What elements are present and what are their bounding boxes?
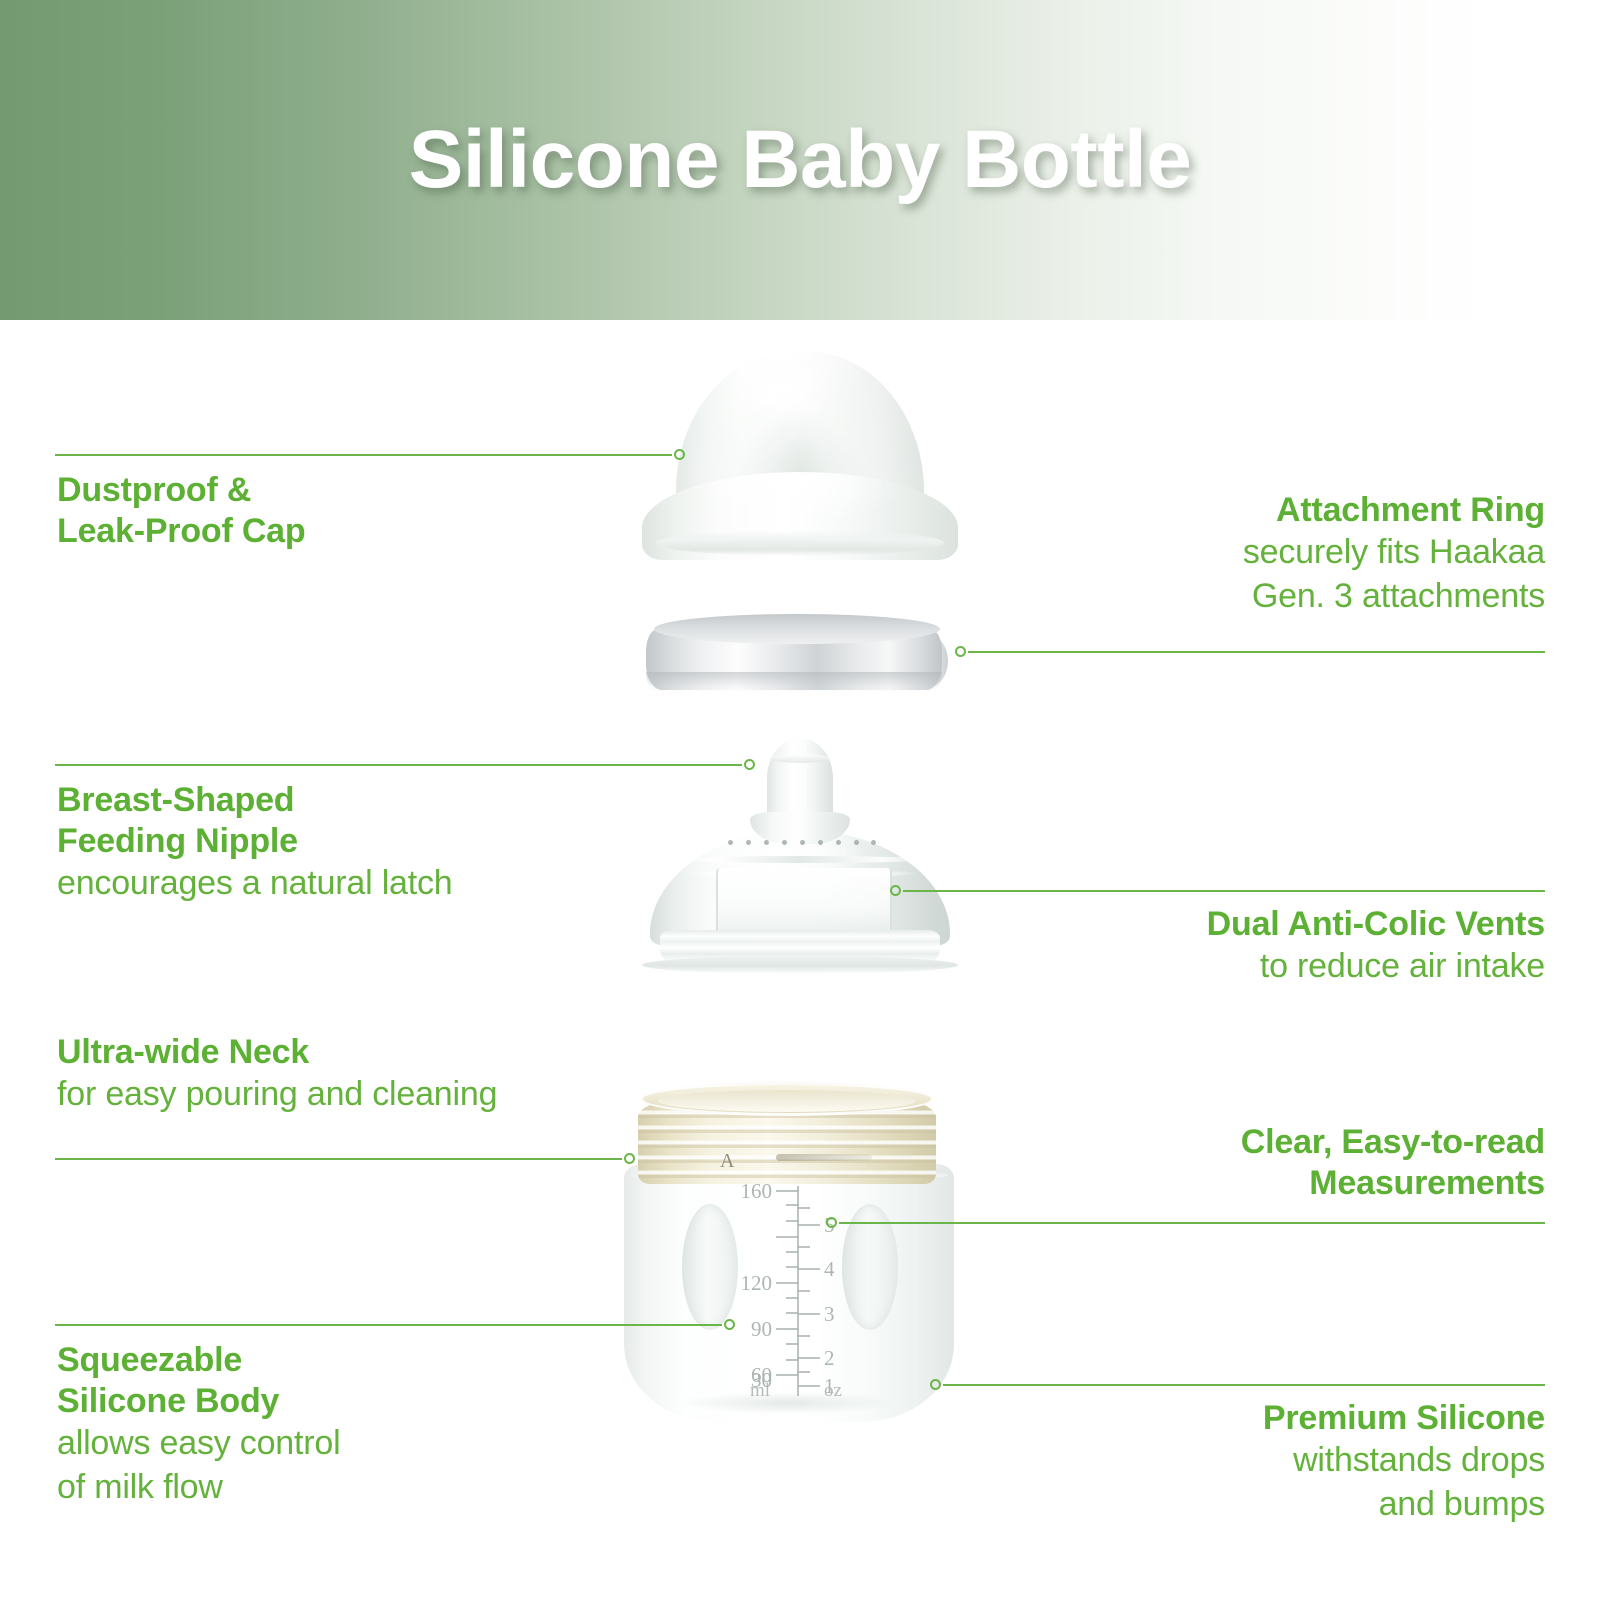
cap-flare-rim <box>656 530 944 556</box>
leader-line-body <box>55 1318 735 1332</box>
callout-nipple-head-line1: Breast-Shaped <box>57 780 657 821</box>
ring-bottom-shade <box>646 672 942 692</box>
callout-nipple: Breast-Shaped Feeding Nipple encourages … <box>57 780 657 906</box>
leader-knob-icon <box>930 1379 941 1390</box>
callout-attachment-ring-sub-line1: securely fits Haakaa <box>925 531 1545 575</box>
leader-knob-icon <box>624 1153 635 1164</box>
callout-body-head-line1: Squeezable <box>57 1340 657 1381</box>
callout-attachment-ring-sub-line2: Gen. 3 attachments <box>925 575 1545 619</box>
callout-premium-silicone-sub-line2: and bumps <box>925 1483 1545 1527</box>
callout-neck: Ultra-wide Neck for easy pouring and cle… <box>57 1032 657 1117</box>
scale-tick-minor <box>786 1251 799 1253</box>
bottle-grip-left <box>682 1204 738 1330</box>
leader-line-cap <box>55 448 685 462</box>
scale-tick-minor <box>797 1371 810 1373</box>
leader-knob-icon <box>890 885 901 896</box>
scale-tick-minor <box>797 1290 810 1292</box>
callout-neck-head-line1: Ultra-wide Neck <box>57 1032 657 1073</box>
scale-tick <box>776 1282 799 1284</box>
leader-knob-icon <box>674 449 685 460</box>
callout-premium-silicone: Premium Silicone withstands drops and bu… <box>925 1398 1545 1526</box>
leader-line-attachment-ring <box>955 645 1545 659</box>
scale-tick-minor <box>797 1207 810 1209</box>
scale-tick <box>776 1374 799 1376</box>
scale-tick-minor <box>786 1359 799 1361</box>
bottle-neck-opening <box>658 1090 916 1112</box>
scale-tick-minor <box>797 1335 810 1337</box>
scale-tick <box>797 1385 820 1387</box>
scale-unit-ml: ml <box>750 1380 770 1402</box>
leader-line-nipple <box>55 758 755 772</box>
leader-line-anti-colic <box>890 884 1545 898</box>
callout-nipple-sub: encourages a natural latch <box>57 862 657 906</box>
callout-cap-head-line2: Leak-Proof Cap <box>57 511 617 552</box>
leader-knob-icon <box>826 1217 837 1228</box>
scale-tick-minor <box>786 1220 799 1222</box>
callout-body-sub-line2: of milk flow <box>57 1466 657 1510</box>
callout-anti-colic-head: Dual Anti-Colic Vents <box>925 904 1545 945</box>
nipple-flange <box>642 956 958 974</box>
scale-tick <box>776 1328 799 1330</box>
scale-tick <box>776 1190 799 1192</box>
callout-measurements: Clear, Easy-to-read Measurements <box>925 1122 1545 1204</box>
leader-line-measurements <box>826 1216 1545 1230</box>
scale-ml-label: 120 <box>712 1273 772 1294</box>
scale-tick <box>797 1268 820 1270</box>
callout-attachment-ring-head: Attachment Ring <box>925 490 1545 531</box>
callout-measurements-head-line2: Measurements <box>925 1163 1545 1204</box>
infographic-page: Silicone Baby Bottle <box>0 0 1600 1600</box>
scale-ml-label: 160 <box>712 1181 772 1202</box>
scale-oz-label: 3 <box>824 1304 864 1325</box>
scale-tick-minor <box>786 1343 799 1345</box>
nipple-teat-ring <box>770 754 830 763</box>
leader-line-neck <box>55 1152 635 1166</box>
measurement-scale: 160 120 90 60 5 4 3 2 1 ml oz <box>744 1180 856 1402</box>
scale-oz-label: 2 <box>824 1348 864 1369</box>
ring-top-lip <box>654 614 940 644</box>
callout-anti-colic-vents: Dual Anti-Colic Vents to reduce air inta… <box>925 904 1545 989</box>
scale-tick-minor <box>797 1246 810 1248</box>
callout-cap-head-line1: Dustproof & <box>57 470 617 511</box>
scale-tick-minor <box>786 1312 799 1314</box>
bottle-neck-mark: A <box>720 1150 734 1173</box>
scale-tick <box>797 1224 820 1226</box>
product-part-cap <box>642 352 958 560</box>
callout-nipple-head-line2: Feeding Nipple <box>57 821 657 862</box>
callout-body: Squeezable Silicone Body allows easy con… <box>57 1340 657 1509</box>
scale-tick-minor <box>786 1297 799 1299</box>
callout-premium-silicone-head: Premium Silicone <box>925 1398 1545 1439</box>
scale-tick-minor <box>786 1266 799 1268</box>
callout-body-sub-line1: allows easy control <box>57 1422 657 1466</box>
callout-neck-sub: for easy pouring and cleaning <box>57 1073 657 1117</box>
nipple-front-panel <box>716 868 892 934</box>
leader-knob-icon <box>724 1319 735 1330</box>
nipple-ridge-1 <box>672 856 928 863</box>
scale-tick <box>776 1236 799 1238</box>
scale-tick <box>797 1313 820 1315</box>
callout-cap: Dustproof & Leak-Proof Cap <box>57 470 617 552</box>
scale-unit-oz: oz <box>824 1380 842 1402</box>
callout-anti-colic-sub: to reduce air intake <box>925 945 1545 989</box>
page-title: Silicone Baby Bottle <box>0 0 1600 320</box>
bottle-neck-slot <box>776 1154 872 1161</box>
leader-line-premium-silicone <box>930 1378 1545 1392</box>
callout-premium-silicone-sub-line1: withstands drops <box>925 1439 1545 1483</box>
scale-oz-label: 4 <box>824 1259 864 1280</box>
scale-tick <box>797 1357 820 1359</box>
callout-measurements-head-line1: Clear, Easy-to-read <box>925 1122 1545 1163</box>
leader-knob-icon <box>744 759 755 770</box>
callout-body-head-line2: Silicone Body <box>57 1381 657 1422</box>
product-part-attachment-ring <box>646 614 948 696</box>
callout-attachment-ring: Attachment Ring securely fits Haakaa Gen… <box>925 490 1545 618</box>
leader-knob-icon <box>955 646 966 657</box>
scale-tick-minor <box>786 1204 799 1206</box>
cap-gloss-highlight <box>734 366 808 418</box>
anti-colic-vent-holes <box>728 838 876 848</box>
